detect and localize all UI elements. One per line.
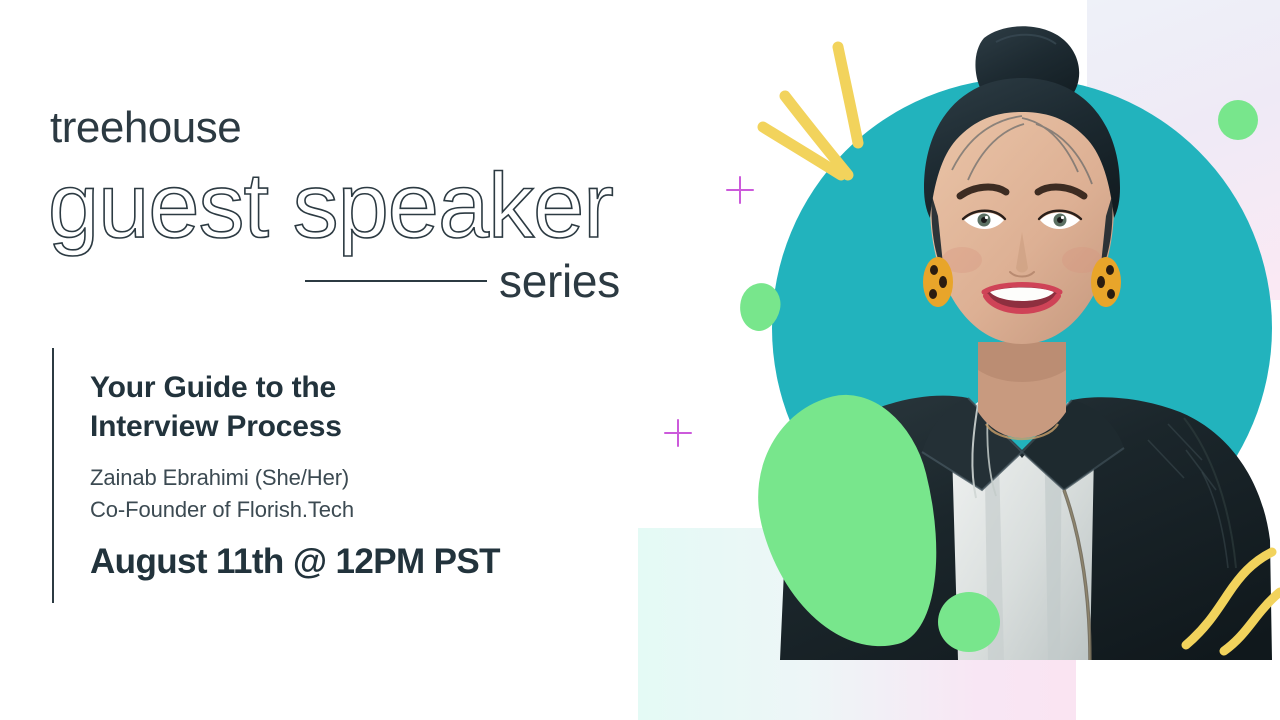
green-dot-small-shape — [938, 592, 1000, 652]
event-title-line-2: Interview Process — [90, 407, 610, 446]
earring-right — [1091, 257, 1121, 307]
event-title: Your Guide to the Interview Process — [90, 368, 610, 446]
detail-accent-bar — [52, 348, 54, 603]
guest-speaker-headline: guest speaker — [48, 160, 613, 252]
event-title-line-1: Your Guide to the — [90, 368, 610, 407]
series-row: series — [305, 255, 630, 307]
earring-left — [923, 257, 953, 307]
speaker-role: Co-Founder of Florish.Tech — [90, 494, 610, 526]
event-speaker: Zainab Ebrahimi (She/Her) Co-Founder of … — [90, 462, 610, 526]
plus-mark-top-icon — [726, 176, 754, 204]
speaker-name: Zainab Ebrahimi (She/Her) — [90, 462, 610, 494]
series-divider-rule — [305, 280, 487, 282]
treehouse-wordmark: treehouse — [50, 106, 241, 150]
series-label: series — [499, 258, 620, 304]
promo-slide: treehouse guest speaker series Your Guid… — [0, 0, 1280, 720]
event-details: Your Guide to the Interview Process Zain… — [90, 368, 610, 579]
event-datetime: August 11th @ 12PM PST — [90, 544, 610, 579]
plus-mark-middle-icon — [664, 419, 692, 447]
